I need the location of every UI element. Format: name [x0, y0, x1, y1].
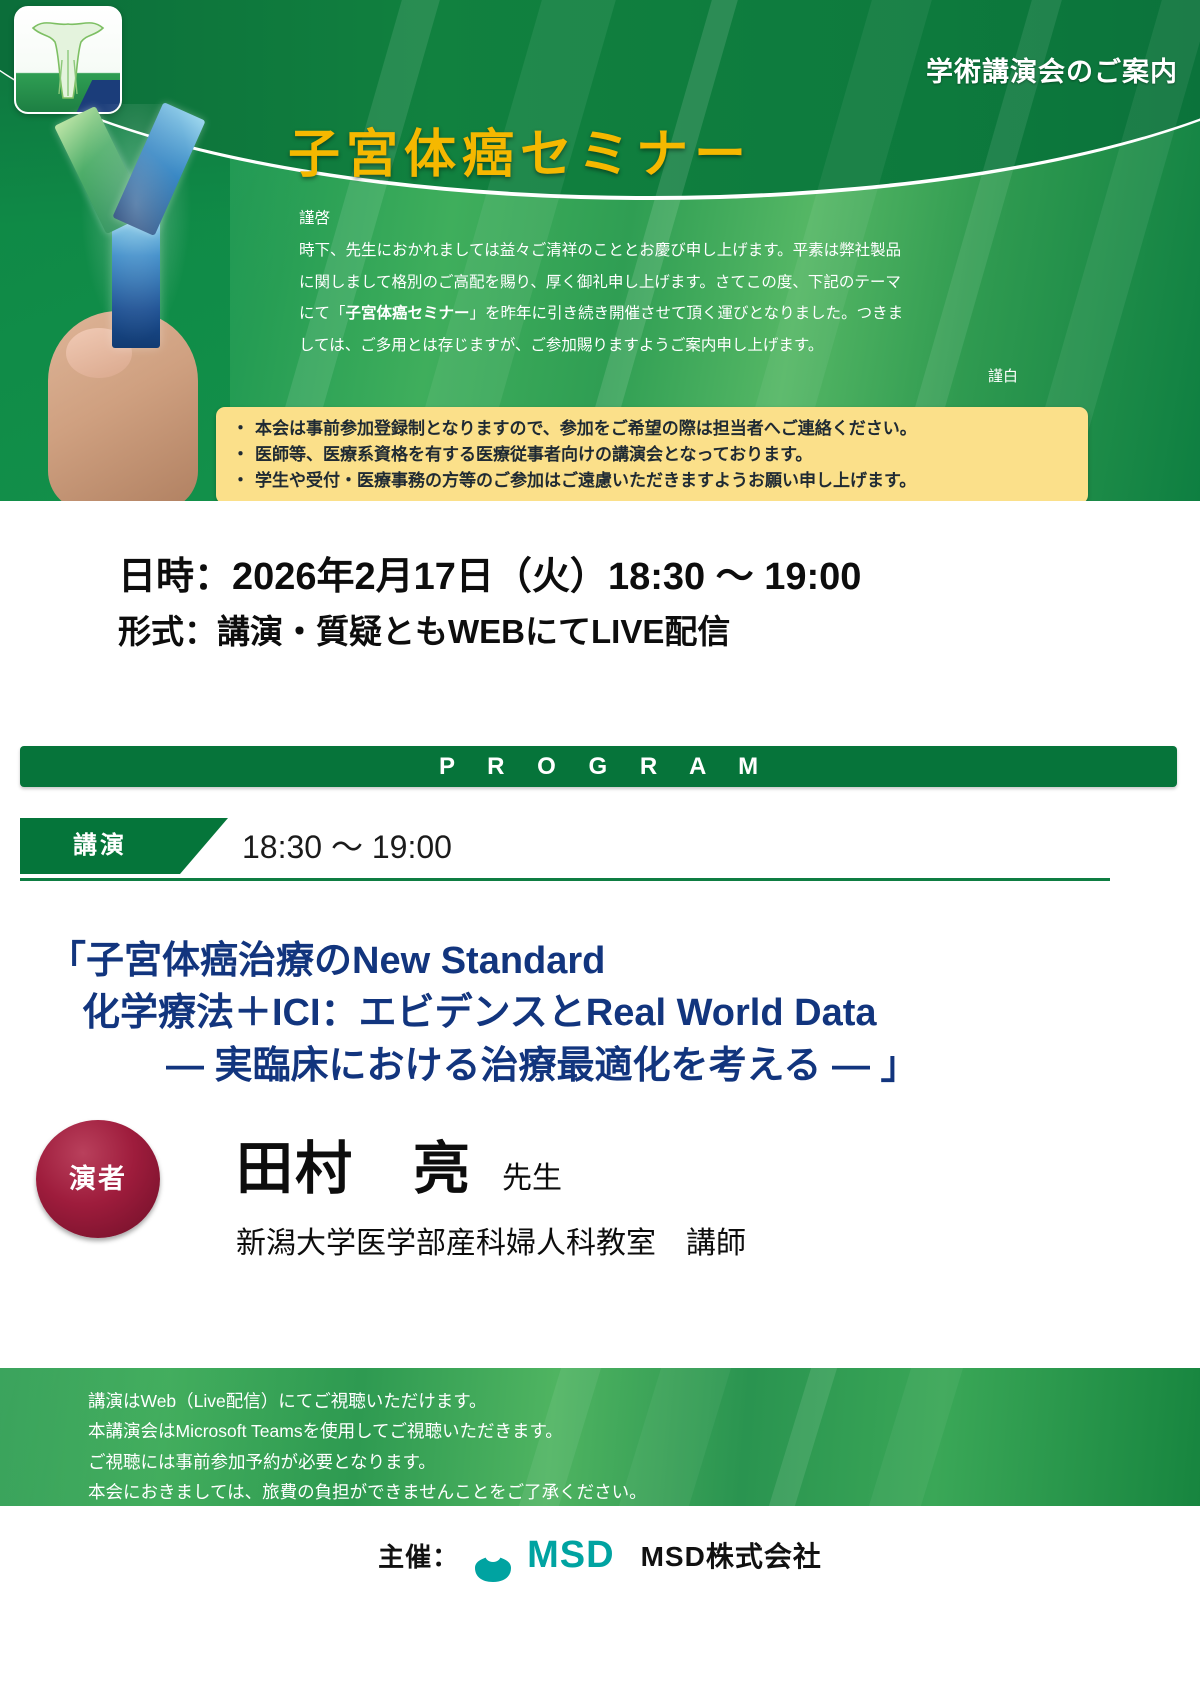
session-row: 講演 18:30 ～ 19:00	[20, 818, 1110, 880]
speaker-badge: 演者	[36, 1120, 160, 1238]
greeting-line-3-pre: にて「	[299, 305, 346, 322]
session-time: 18:30 ～ 19:00	[242, 822, 452, 868]
footer-note-4: 本会におきましては、旅費の負担ができませんことをご了承ください。	[88, 1477, 647, 1507]
footer-streak	[869, 1368, 963, 1506]
session-tag: 講演	[20, 818, 180, 874]
header-kicker: 学術講演会のご案内	[926, 50, 1178, 89]
host-company-name: MSD株式会社	[641, 1535, 822, 1575]
seminar-flyer: 学術講演会のご案内 子宮体癌セミナー 謹啓 時下、先生におかれましては益々ご清祥…	[0, 0, 1200, 1697]
program-banner-label: P R O G R A M	[20, 746, 1177, 787]
lecture-title-line-3: ― 実臨床における治療最適化を考える ― 」	[48, 1040, 1158, 1092]
seminar-title: 子宮体癌セミナー	[288, 112, 752, 187]
event-format: 形式：講演・質疑ともWEBにてLIVE配信	[118, 605, 730, 653]
greeting-line-2: に関しまして格別のご高配を賜り、厚く御礼申し上げます。さてこの度、下記のテーマ	[299, 267, 1019, 299]
speaker-name-text: 田村 亮	[236, 1137, 472, 1201]
notice-bullet-3: 学生や受付・医療事務の方等のご参加はご遠慮いただきますようお願い申し上げます。	[232, 468, 1072, 494]
footer-notes: 講演はWeb（Live配信）にてご視聴いただけます。 本講演会はMicrosof…	[88, 1386, 647, 1507]
host-row: 主催： MSD MSD株式会社	[0, 1528, 1200, 1582]
footer-note-3: ご視聴には事前参加予約が必要となります。	[88, 1447, 647, 1477]
speaker-name: 田村 亮先生	[236, 1123, 562, 1205]
speaker-honorific: 先生	[502, 1162, 562, 1195]
footer-note-2: 本講演会はMicrosoft Teamsを使用してご視聴いただきます。	[88, 1416, 647, 1446]
footer-streak	[769, 1368, 837, 1506]
greeting-line-3-post: 」を昨年に引き続き開催させて頂く運びとなりました。つきま	[470, 305, 904, 322]
notice-box: 本会は事前参加登録制となりますので、参加をご希望の際は担当者へご連絡ください。 …	[216, 407, 1088, 501]
host-label: 主催：	[378, 1537, 459, 1574]
speaker-affiliation: 新潟大学医学部産科婦人科教室 講師	[236, 1218, 746, 1262]
speaker-badge-label: 演者	[36, 1120, 160, 1238]
session-tag-label: 講演	[20, 818, 180, 874]
lecture-title-line-2: 化学療法＋ICI：エビデンスとReal World Data	[48, 987, 1158, 1039]
msd-logo-icon	[473, 1528, 513, 1582]
lecture-title-line-1: 「子宮体癌治療のNew Standard	[48, 935, 1158, 987]
greeting-text: 謹啓 時下、先生におかれましては益々ご清祥のこととお慶び申し上げます。平素は弊社…	[299, 203, 1019, 362]
session-divider	[20, 878, 1110, 881]
notice-bullet-1: 本会は事前参加登録制となりますので、参加をご希望の際は担当者へご連絡ください。	[232, 416, 1072, 442]
program-banner: P R O G R A M	[20, 746, 1177, 787]
footer-note-1: 講演はWeb（Live配信）にてご視聴いただけます。	[88, 1386, 647, 1416]
greeting-line-4: しては、ご多用とは存じますが、ご参加賜りますようご案内申し上げます。	[299, 330, 1019, 362]
greeting-line-3: にて「子宮体癌セミナー」を昨年に引き続き開催させて頂く運びとなりました。つきま	[299, 298, 1019, 330]
lecture-title: 「子宮体癌治療のNew Standard 化学療法＋ICI：エビデンスとReal…	[48, 935, 1158, 1092]
notice-bullet-2: 医師等、医療系資格を有する医療従事者向けの講演会となっております。	[232, 442, 1072, 468]
event-datetime: 日時：2026年2月17日（火）18:30 ～ 19:00	[118, 545, 861, 600]
greeting-salutation: 謹啓	[299, 203, 1019, 235]
greeting-closing: 謹白	[988, 365, 1018, 386]
greeting-line-1: 時下、先生におかれましては益々ご清祥のこととお慶び申し上げます。平素は弊社製品	[299, 235, 1019, 267]
session-tag-wedge	[180, 818, 228, 874]
y-glow	[76, 104, 196, 354]
header-banner: 学術講演会のご案内 子宮体癌セミナー 謹啓 時下、先生におかれましては益々ご清祥…	[0, 0, 1200, 501]
greeting-seminar-name: 子宮体癌セミナー	[346, 305, 470, 322]
msd-logo-text: MSD	[527, 1534, 614, 1577]
